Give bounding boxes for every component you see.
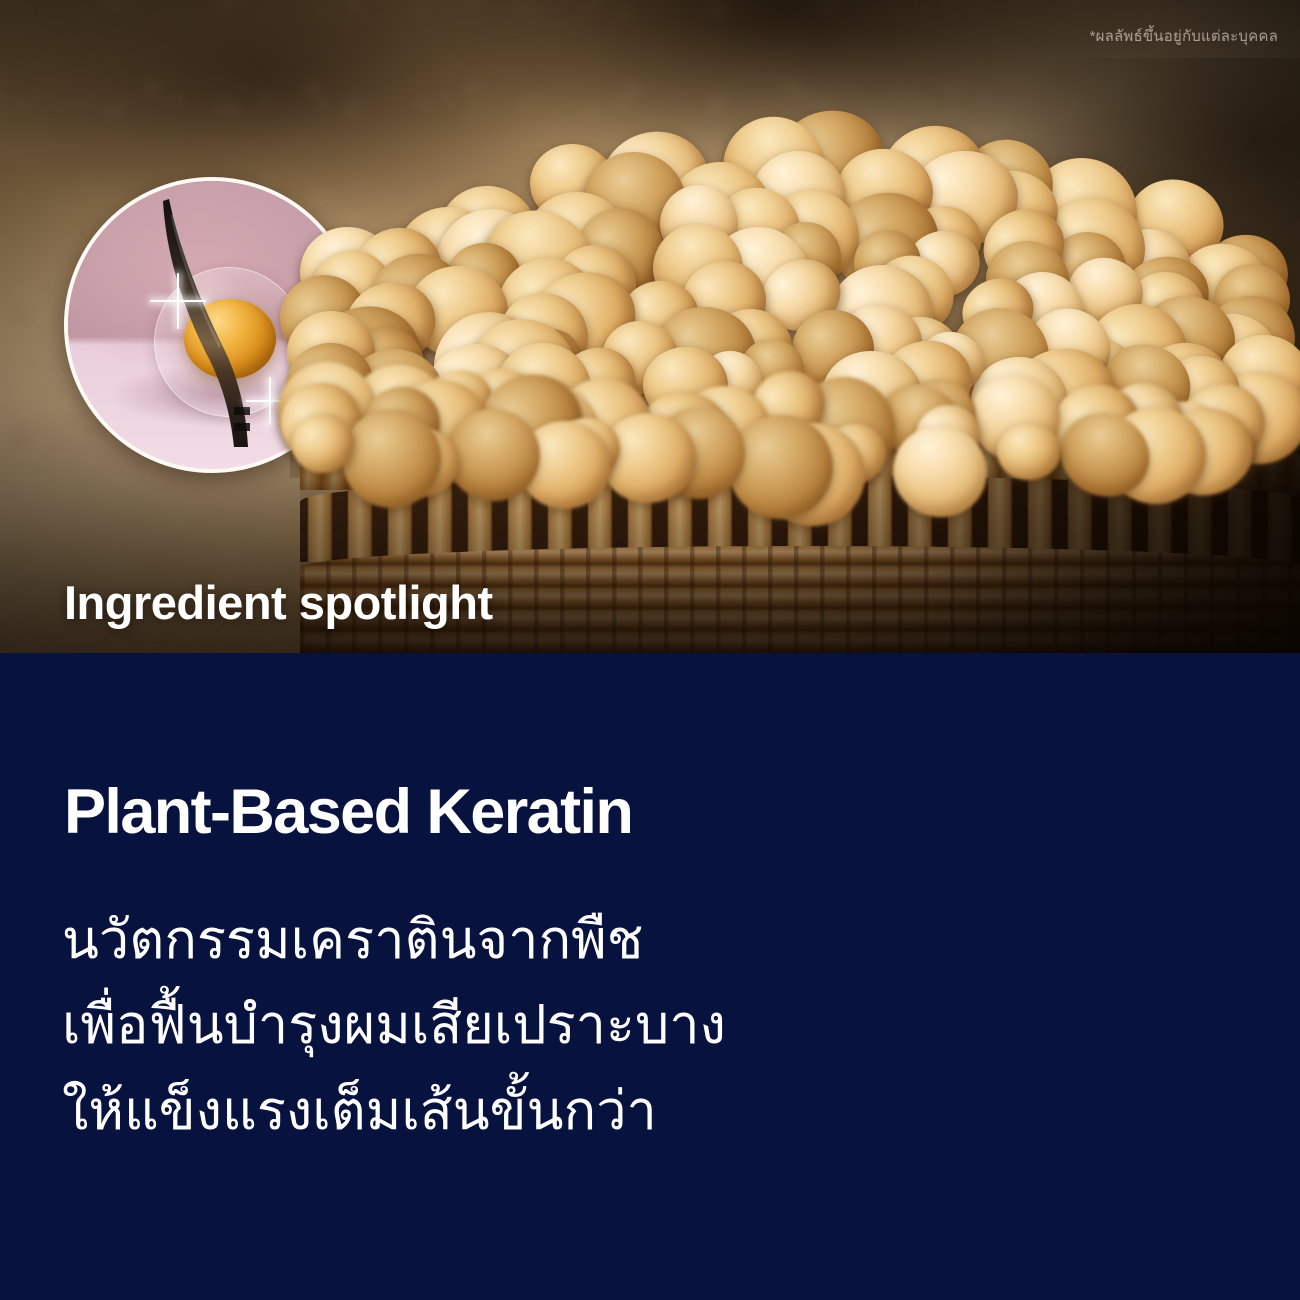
disclaimer-text: *ผลลัพธ์ขึ้นอยู่กับแต่ละบุคคล — [1090, 24, 1278, 48]
page-title: Plant-Based Keratin — [64, 776, 632, 848]
body-copy: นวัตกรรมเคราตินจากพืชเพื่อฟื้นบำรุงผมเสี… — [62, 898, 1162, 1154]
ingredient-spotlight-card: *ผลลัพธ์ขึ้นอยู่กับแต่ละบุคคล Ingredient… — [0, 0, 1300, 1300]
body-copy-line-1: นวัตกรรมเคราตินจากพืช — [62, 898, 1162, 983]
oil-droplet-icon — [184, 299, 276, 379]
body-copy-line-2: เพื่อฟื้นบำรุงผมเสียเปราะบาง — [62, 983, 1162, 1068]
soybean-pile — [290, 58, 1300, 478]
eyebrow-label: Ingredient spotlight — [64, 575, 493, 630]
body-copy-line-3: ให้แข็งแรงเต็มเส้นขั้นกว่า — [62, 1069, 1162, 1154]
